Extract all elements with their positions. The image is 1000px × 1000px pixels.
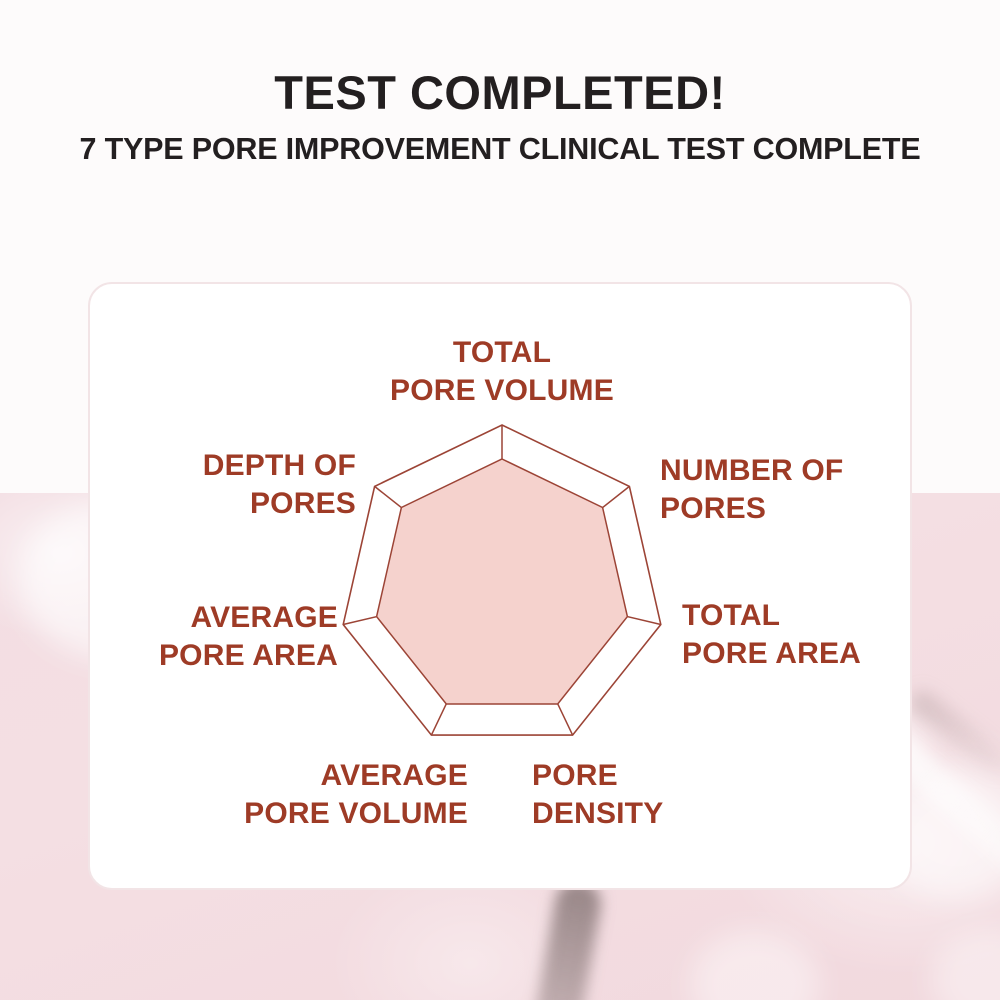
header: TEST COMPLETED! 7 TYPE PORE IMPROVEMENT … — [0, 0, 1000, 167]
axis-label-total-pore-volume: TOTAL PORE VOLUME — [302, 334, 702, 411]
page-title: TEST COMPLETED! — [0, 0, 1000, 117]
page-subtitle: 7 TYPE PORE IMPROVEMENT CLINICAL TEST CO… — [0, 117, 1000, 167]
axis-label-total-pore-area: TOTAL PORE AREA — [682, 597, 912, 674]
radar-chart: TOTAL PORE VOLUME NUMBER OF PORES TOTAL … — [90, 284, 914, 892]
chart-card: TOTAL PORE VOLUME NUMBER OF PORES TOTAL … — [88, 282, 912, 890]
axis-label-average-pore-area: AVERAGE PORE AREA — [100, 599, 338, 676]
axis-label-average-pore-volume: AVERAGE PORE VOLUME — [130, 757, 468, 834]
infographic-page: TEST COMPLETED! 7 TYPE PORE IMPROVEMENT … — [0, 0, 1000, 1000]
axis-label-number-of-pores: NUMBER OF PORES — [660, 452, 910, 529]
axis-label-depth-of-pores: DEPTH OF PORES — [108, 447, 356, 524]
axis-label-pore-density: PORE DENSITY — [532, 757, 792, 834]
radar-series-polygon — [377, 459, 628, 704]
